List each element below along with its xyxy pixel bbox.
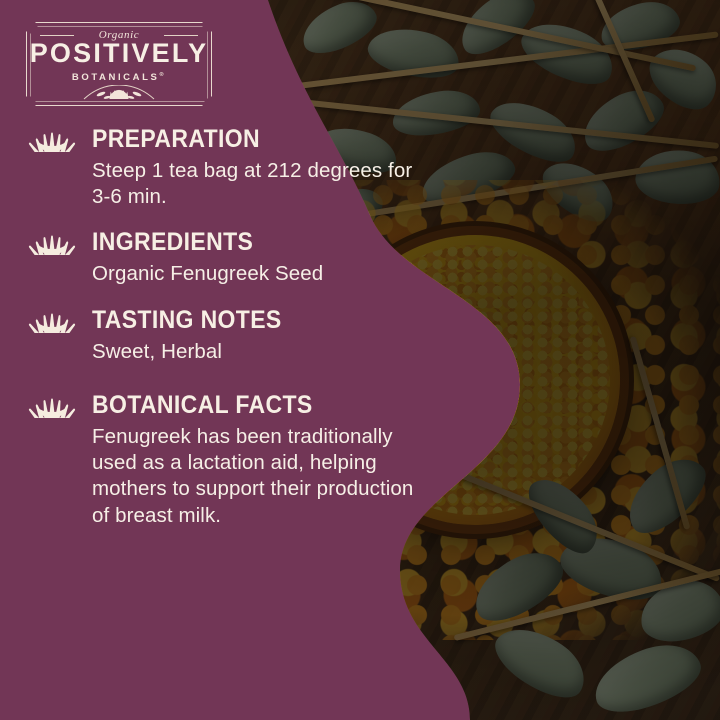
logo-subtitle: BOTANICALS® (26, 72, 212, 83)
section-tasting-notes: TASTING NOTES Sweet, Herbal (0, 307, 420, 365)
info-sections: PREPARATION Steep 1 tea bag at 212 degre… (0, 126, 420, 541)
section-body-botanical-facts: Fenugreek has been traditionally used as… (92, 424, 420, 529)
section-body-tasting-notes: Sweet, Herbal (92, 339, 420, 365)
section-body-preparation: Steep 1 tea bag at 212 degrees for 3-6 m… (92, 158, 420, 210)
section-preparation: PREPARATION Steep 1 tea bag at 212 degre… (0, 126, 420, 211)
section-title-ingredients: INGREDIENTS (92, 229, 394, 255)
fan-shell-icon (28, 128, 76, 158)
fan-shell-ornament-icon (26, 85, 212, 103)
product-info-panel: Organic POSITIVELY BOTANICALS® (0, 0, 720, 720)
fan-shell-icon (28, 309, 76, 339)
logo-subtitle-text: BOTANICALS (72, 72, 160, 83)
registered-trademark-icon: ® (159, 72, 166, 78)
section-ingredients: INGREDIENTS Organic Fenugreek Seed (0, 229, 420, 287)
brand-logo[interactable]: Organic POSITIVELY BOTANICALS® (26, 22, 212, 106)
fan-shell-icon (28, 394, 76, 424)
logo-wordmark: POSITIVELY (26, 40, 212, 67)
section-botanical-facts: BOTANICAL FACTS Fenugreek has been tradi… (0, 392, 420, 529)
section-title-preparation: PREPARATION (92, 126, 394, 152)
fan-shell-icon (28, 231, 76, 261)
section-title-botanical-facts: BOTANICAL FACTS (92, 392, 394, 418)
section-body-ingredients: Organic Fenugreek Seed (92, 261, 420, 287)
section-title-tasting-notes: TASTING NOTES (92, 307, 394, 333)
